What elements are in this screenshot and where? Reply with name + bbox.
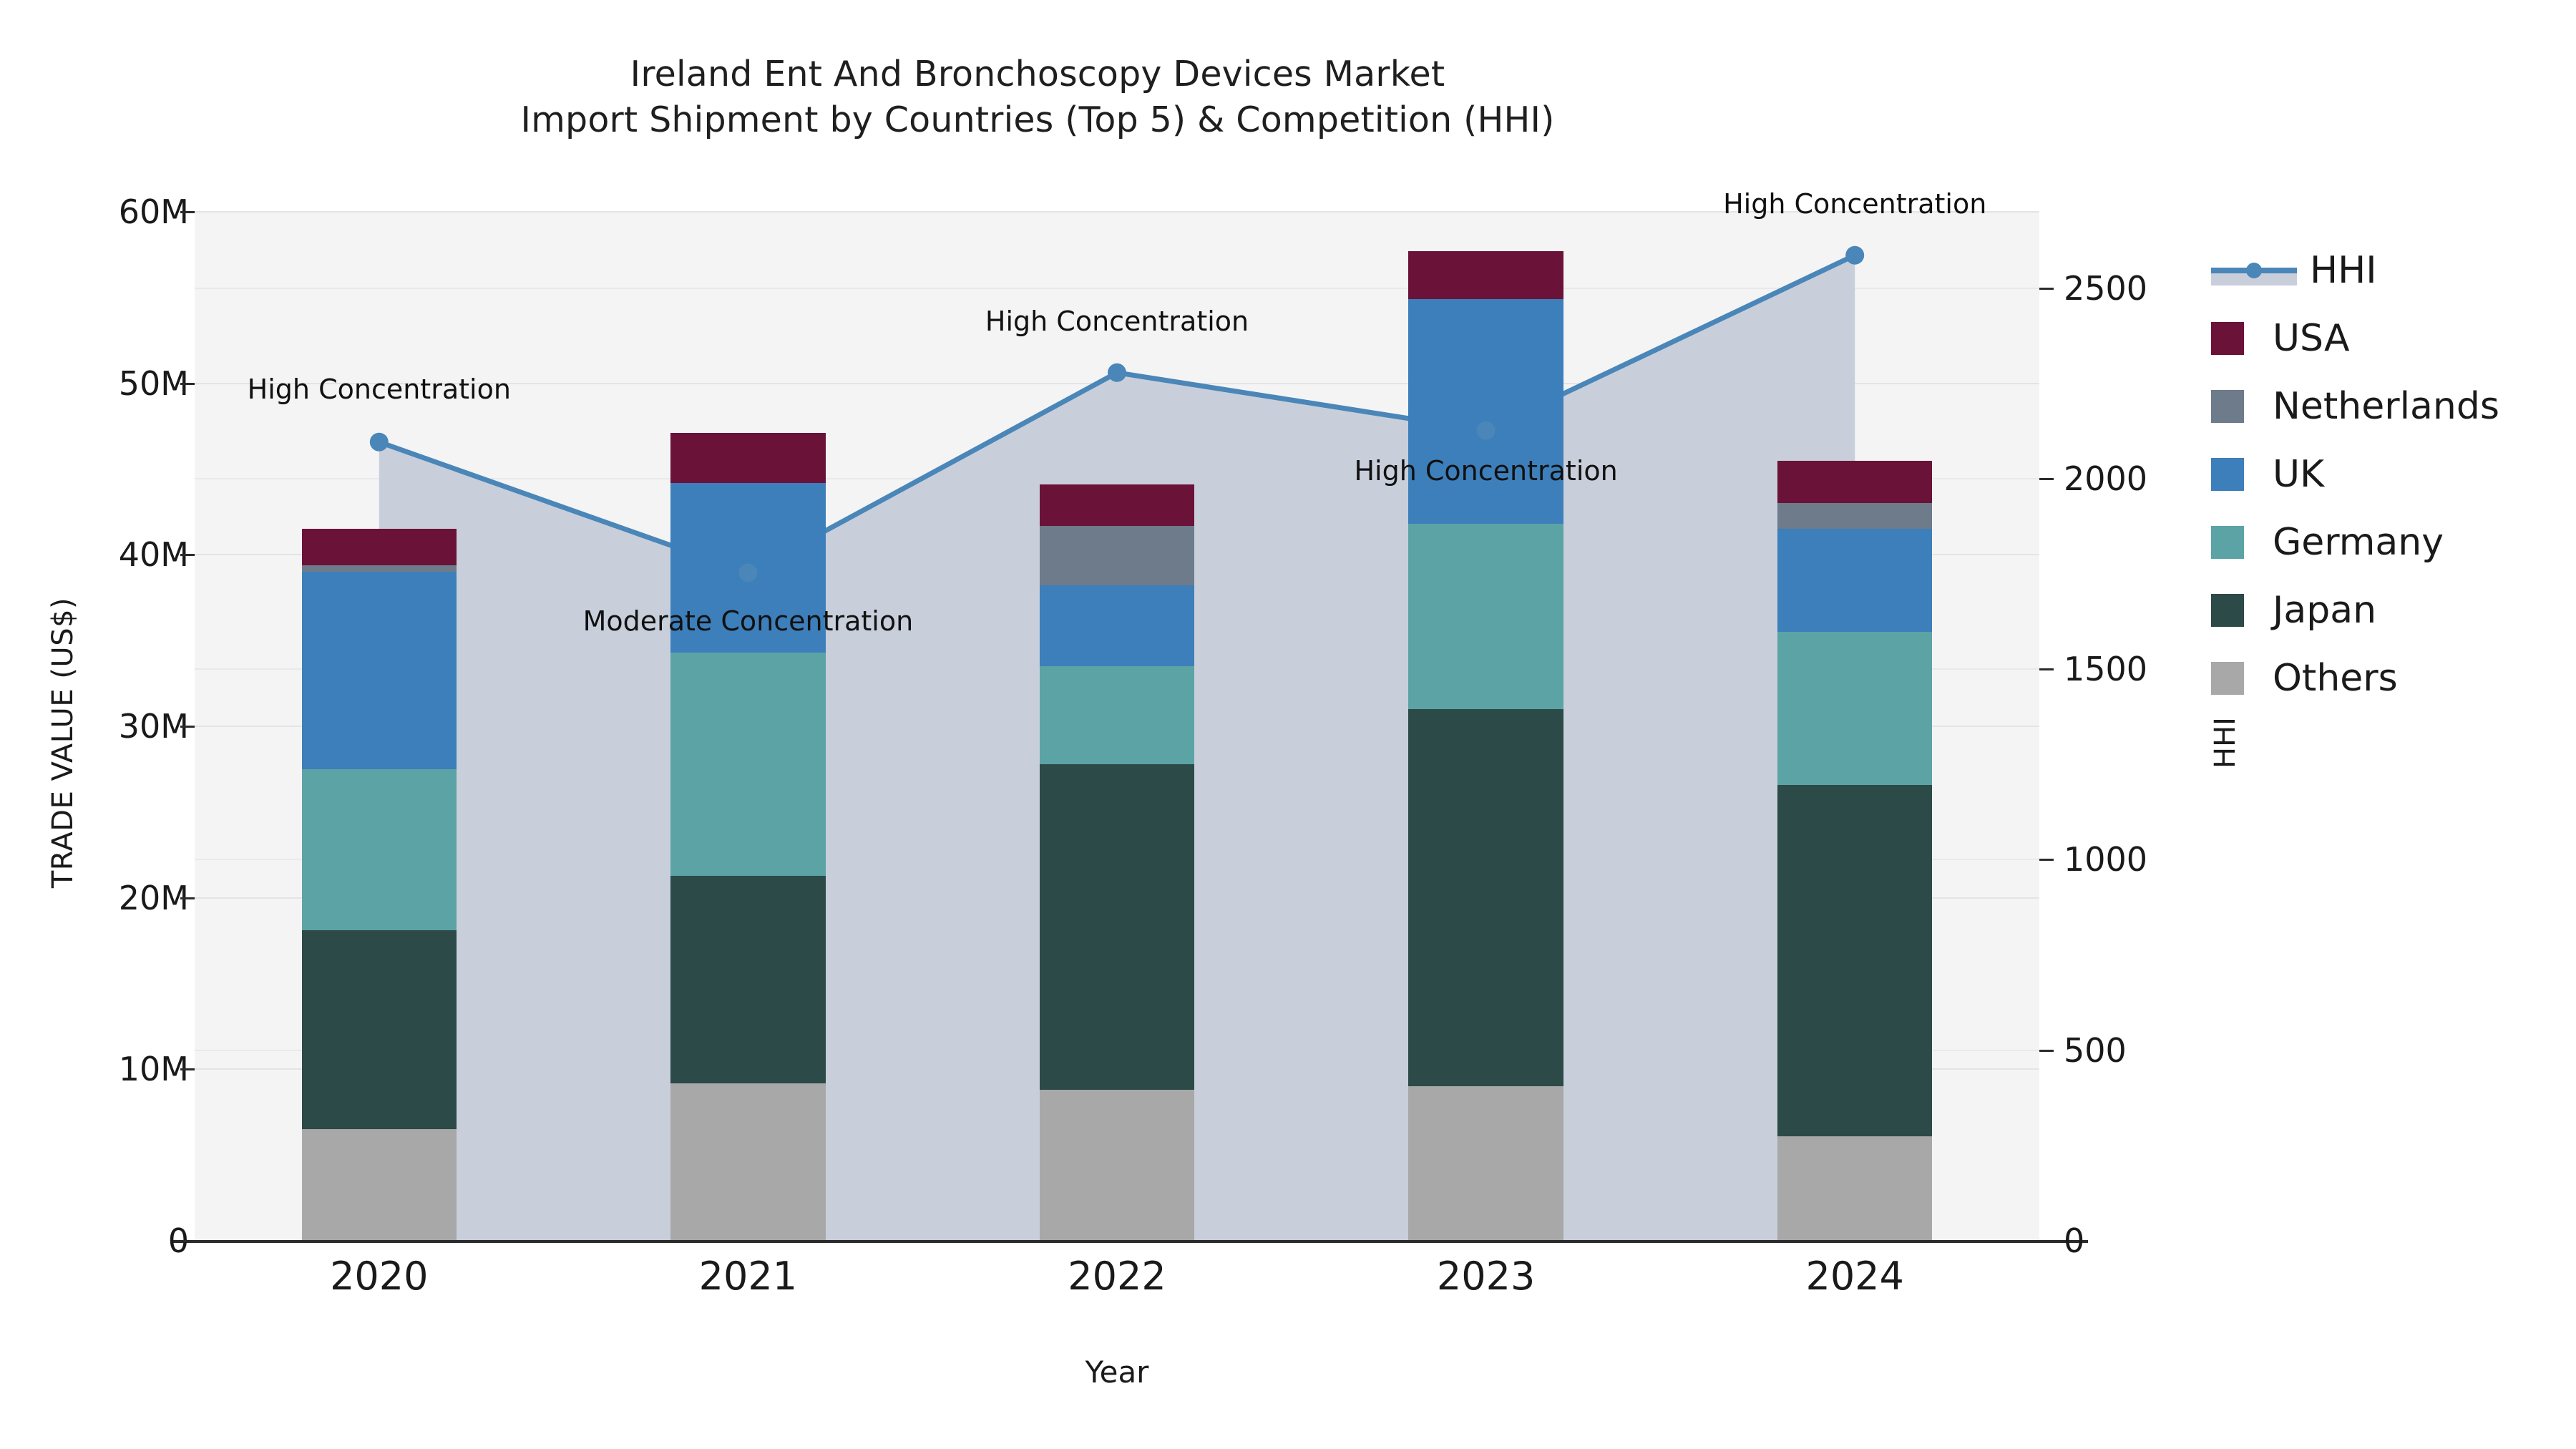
legend-label-hhi: HHI: [2310, 252, 2377, 289]
x-tick-label-2020: 2020: [236, 1254, 522, 1299]
legend-swatch-uk: [2211, 458, 2244, 491]
y-tick-mark-20M: [180, 897, 195, 899]
bar-segment-2024-germany[interactable]: [1777, 632, 1933, 784]
bar-segment-2020-japan[interactable]: [302, 930, 457, 1129]
legend-marker-dot: [2246, 263, 2262, 278]
legend-item-usa[interactable]: USA: [2211, 304, 2499, 372]
legend-item-uk[interactable]: UK: [2211, 440, 2499, 508]
bar-segment-2024-uk[interactable]: [1777, 529, 1933, 632]
y-tick-mark-0: [180, 1240, 195, 1242]
legend-item-netherlands[interactable]: Netherlands: [2211, 372, 2499, 440]
legend-line-icon: [2211, 254, 2297, 287]
legend-item-hhi[interactable]: HHI: [2211, 236, 2499, 304]
x-axis-title: Year: [195, 1355, 2039, 1390]
legend-item-germany[interactable]: Germany: [2211, 508, 2499, 576]
y-axis-left-title: TRADE VALUE (US$): [47, 471, 79, 1015]
legend-swatch-germany: [2211, 526, 2244, 559]
y-tick-label-10M: 10M: [119, 1050, 189, 1088]
annotation-2021: Moderate Concentration: [583, 605, 914, 637]
chart-subtitle: Import Shipment by Countries (Top 5) & C…: [0, 97, 2075, 143]
legend-swatch-usa: [2211, 322, 2244, 355]
legend-label-usa: USA: [2273, 320, 2350, 357]
x-tick-label-2021: 2021: [605, 1254, 891, 1299]
x-tick-label-2022: 2022: [974, 1254, 1260, 1299]
bar-segment-2023-germany[interactable]: [1408, 524, 1563, 709]
bar-segment-2023-others[interactable]: [1408, 1086, 1563, 1241]
legend-item-japan[interactable]: Japan: [2211, 576, 2499, 644]
bar-segment-2022-usa[interactable]: [1040, 484, 1195, 526]
y-tick-mark-50M: [180, 383, 195, 385]
bar-segment-2021-germany[interactable]: [670, 653, 826, 876]
y2-tick-mark-0: [2039, 1240, 2054, 1242]
bar-segment-2023-usa[interactable]: [1408, 251, 1563, 299]
y2-tick-label-1500: 1500: [2064, 650, 2147, 688]
bar-segment-2023-japan[interactable]: [1408, 709, 1563, 1086]
bar-segment-2022-germany[interactable]: [1040, 666, 1195, 764]
y2-tick-label-1000: 1000: [2064, 840, 2147, 879]
plot-area: High ConcentrationModerate Concentration…: [195, 212, 2039, 1241]
bar-stack-2023[interactable]: [1408, 212, 1563, 1241]
legend-swatch-japan: [2211, 594, 2244, 627]
bar-segment-2020-others[interactable]: [302, 1129, 457, 1241]
bar-segment-2020-usa[interactable]: [302, 529, 457, 565]
bar-stack-2020[interactable]: [302, 212, 457, 1241]
bar-stack-2022[interactable]: [1040, 212, 1195, 1241]
x-tick-label-2023: 2023: [1343, 1254, 1629, 1299]
bar-segment-2020-netherlands[interactable]: [302, 565, 457, 572]
x-axis-spine: [170, 1240, 2088, 1243]
legend-label-uk: UK: [2273, 456, 2324, 493]
y-tick-mark-30M: [180, 726, 195, 728]
annotation-2023: High Concentration: [1354, 455, 1617, 487]
bar-segment-2021-usa[interactable]: [670, 433, 826, 483]
y-tick-label-60M: 60M: [119, 192, 189, 231]
legend-label-netherlands: Netherlands: [2273, 388, 2499, 425]
bar-segment-2021-japan[interactable]: [670, 876, 826, 1083]
legend-label-others: Others: [2273, 660, 2398, 697]
bar-segment-2024-others[interactable]: [1777, 1136, 1933, 1241]
y-tick-label-20M: 20M: [119, 879, 189, 917]
bar-segment-2022-others[interactable]: [1040, 1090, 1195, 1241]
legend-swatch-others: [2211, 662, 2244, 695]
y2-tick-mark-2500: [2039, 288, 2054, 290]
chart-figure: Ireland Ent And Bronchoscopy Devices Mar…: [0, 0, 2576, 1449]
legend-label-japan: Japan: [2273, 592, 2376, 629]
y-tick-label-30M: 30M: [119, 707, 189, 746]
chart-title-block: Ireland Ent And Bronchoscopy Devices Mar…: [0, 52, 2075, 142]
y2-tick-label-2000: 2000: [2064, 459, 2147, 498]
legend-swatch-netherlands: [2211, 390, 2244, 423]
bar-segment-2024-usa[interactable]: [1777, 461, 1933, 504]
bar-segment-2024-japan[interactable]: [1777, 785, 1933, 1136]
bar-segment-2020-germany[interactable]: [302, 769, 457, 930]
bar-segment-2021-others[interactable]: [670, 1083, 826, 1241]
y-tick-mark-60M: [180, 211, 195, 213]
bar-segment-2024-netherlands[interactable]: [1777, 503, 1933, 529]
legend-label-germany: Germany: [2273, 524, 2444, 561]
y2-tick-mark-2000: [2039, 478, 2054, 480]
annotation-2024: High Concentration: [1723, 188, 1986, 220]
y2-tick-label-0: 0: [2064, 1221, 2084, 1260]
y-tick-label-40M: 40M: [119, 535, 189, 574]
y2-tick-label-2500: 2500: [2064, 269, 2147, 308]
x-tick-label-2024: 2024: [1712, 1254, 1998, 1299]
y2-tick-label-500: 500: [2064, 1031, 2127, 1070]
y2-tick-mark-1500: [2039, 668, 2054, 670]
y-tick-mark-10M: [180, 1068, 195, 1070]
chart-title: Ireland Ent And Bronchoscopy Devices Mar…: [0, 52, 2075, 97]
bar-stack-2024[interactable]: [1777, 212, 1933, 1241]
bar-segment-2022-uk[interactable]: [1040, 585, 1195, 666]
bar-segment-2020-uk[interactable]: [302, 572, 457, 769]
annotation-2022: High Concentration: [985, 306, 1249, 337]
y-tick-label-50M: 50M: [119, 364, 189, 403]
y2-tick-mark-1000: [2039, 859, 2054, 861]
chart-legend: HHIUSANetherlandsUKGermanyJapanOthers: [2211, 236, 2499, 712]
bar-segment-2022-netherlands[interactable]: [1040, 526, 1195, 586]
bar-segment-2022-japan[interactable]: [1040, 764, 1195, 1090]
annotation-2020: High Concentration: [248, 374, 511, 405]
bar-segment-2023-uk[interactable]: [1408, 299, 1563, 524]
y-tick-mark-40M: [180, 554, 195, 556]
bar-stack-2021[interactable]: [670, 212, 826, 1241]
legend-item-others[interactable]: Others: [2211, 644, 2499, 712]
y2-tick-mark-500: [2039, 1050, 2054, 1052]
